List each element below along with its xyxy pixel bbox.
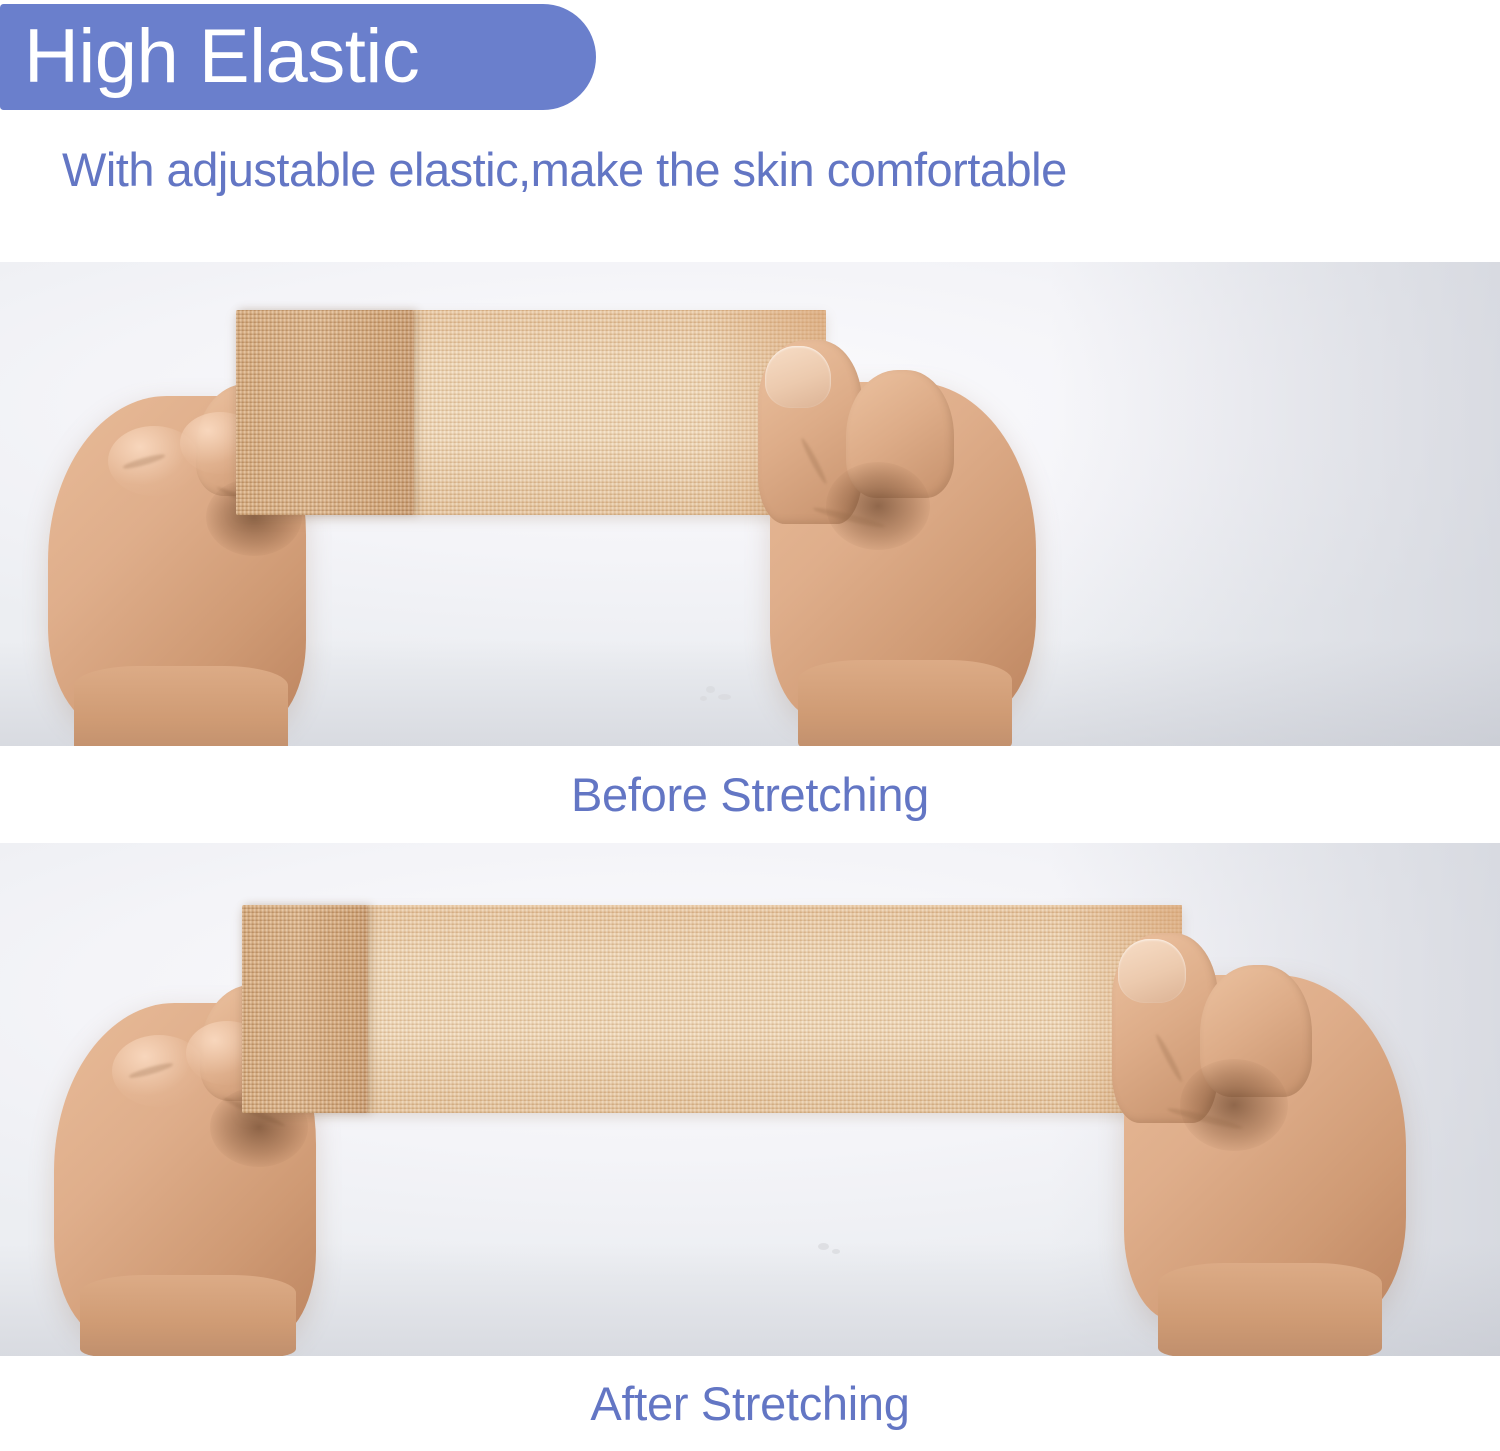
right-wrist — [798, 660, 1012, 746]
right-thumbnail — [1118, 939, 1186, 1003]
elastic-bandage-stretched — [242, 905, 1182, 1113]
surface-speck — [718, 694, 731, 700]
caption-after-stretching: After Stretching — [590, 1380, 909, 1427]
left-wrist — [80, 1275, 296, 1356]
caption-after-stretching-band: After Stretching — [0, 1356, 1500, 1451]
page-title: High Elastic — [0, 19, 419, 95]
caption-before-stretching: Before Stretching — [571, 771, 929, 818]
surface-speck — [818, 1243, 829, 1250]
surface-speck — [706, 686, 715, 693]
header-subtitle: With adjustable elastic,make the skin co… — [62, 143, 1067, 197]
right-wrist — [1158, 1263, 1382, 1356]
surface-speck — [700, 696, 707, 701]
bandage-folded-edge — [236, 310, 414, 515]
title-badge: High Elastic — [0, 4, 596, 110]
photo-before-stretching — [0, 262, 1500, 746]
caption-before-stretching-band: Before Stretching — [0, 746, 1500, 843]
elastic-bandage-unstretched — [236, 310, 826, 515]
right-thumbnail — [765, 346, 831, 408]
right-hand-web-shadow — [1180, 1059, 1288, 1151]
bandage-folded-edge — [242, 905, 368, 1113]
photo-after-stretching — [0, 843, 1500, 1356]
header: High Elastic With adjustable elastic,mak… — [0, 0, 1500, 262]
surface-speck — [832, 1249, 840, 1254]
right-hand-web-shadow — [826, 462, 930, 550]
left-wrist — [74, 666, 288, 746]
